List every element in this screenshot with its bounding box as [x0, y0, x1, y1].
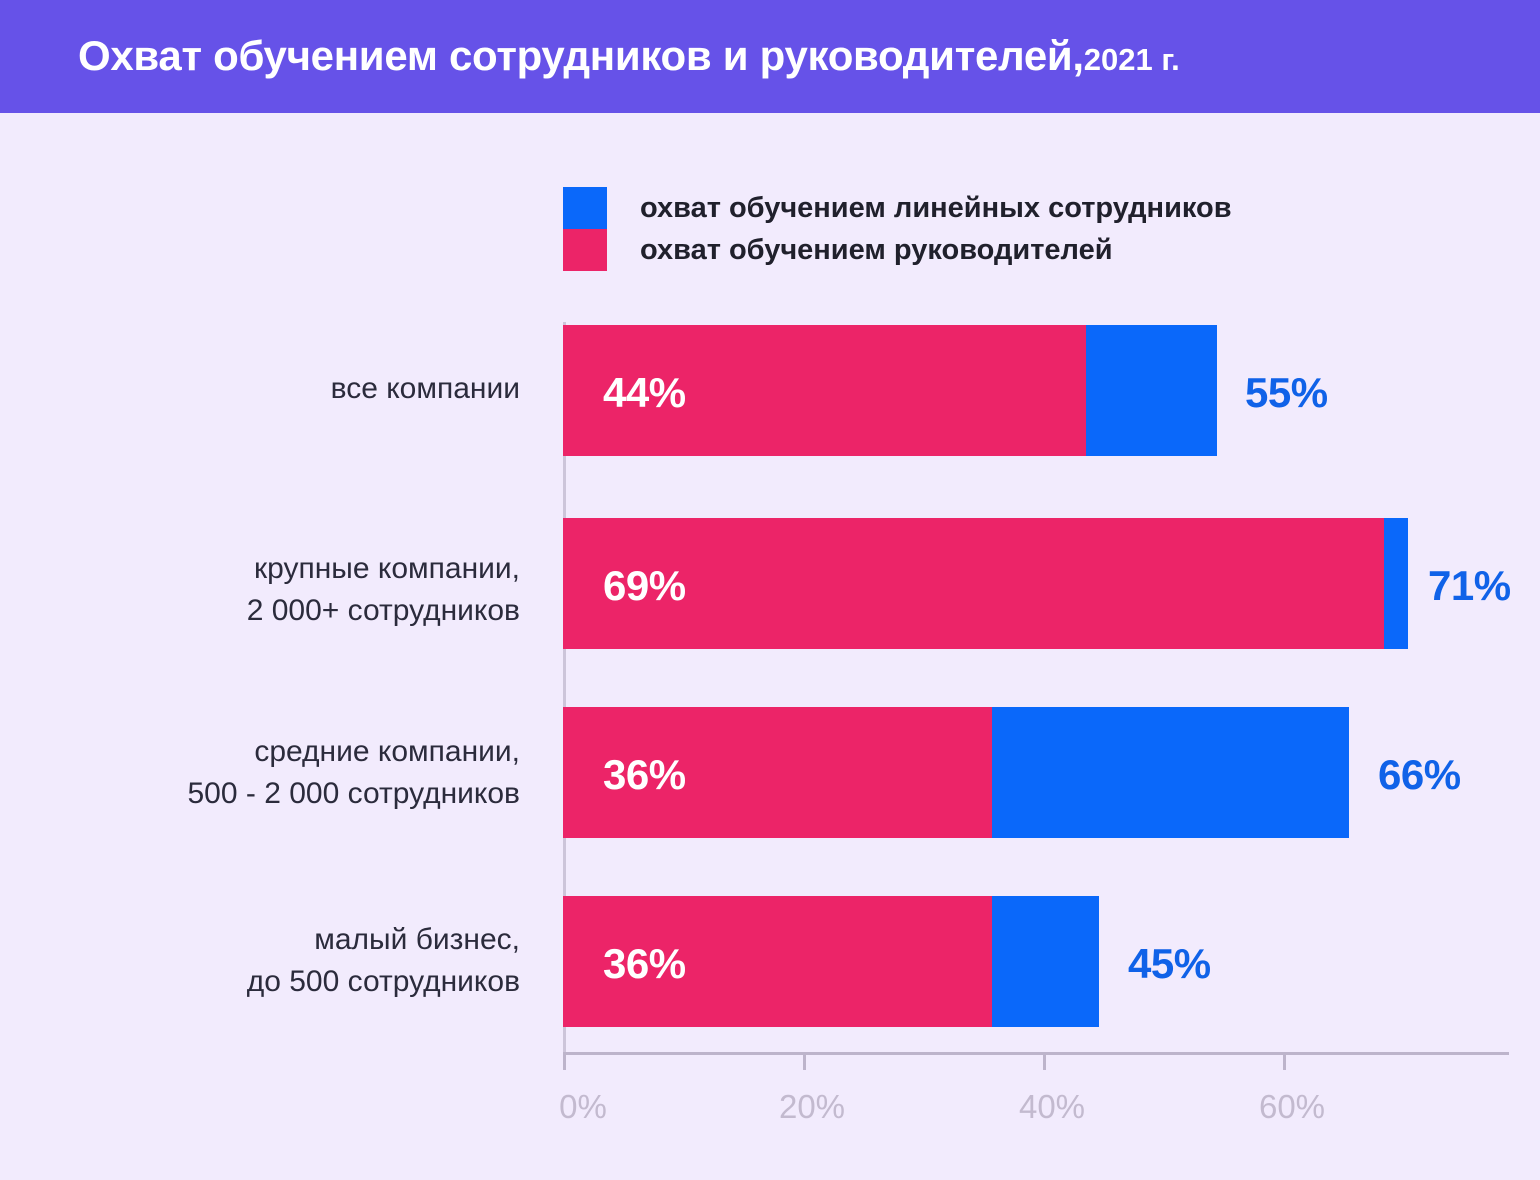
- x-axis-label-40: 40%: [1019, 1088, 1085, 1126]
- x-axis-tick-40: [1043, 1052, 1046, 1070]
- bar-value-blue-small-business: 45%: [1128, 940, 1211, 988]
- category-label-all-companies: все компании: [60, 368, 520, 410]
- category-label-medium-companies: средние компании, 500 - 2 000 сотруднико…: [60, 731, 520, 815]
- bar-value-blue-medium-companies: 66%: [1378, 751, 1461, 799]
- x-axis-label-60: 60%: [1259, 1088, 1325, 1126]
- bar-value-pink-large-companies: 69%: [603, 562, 686, 610]
- bar-value-pink-all-companies: 44%: [603, 369, 686, 417]
- infographic-root: Охват обучением сотрудников и руководите…: [0, 0, 1540, 1180]
- bar-value-blue-all-companies: 55%: [1245, 369, 1328, 417]
- x-axis-tick-20: [803, 1052, 806, 1070]
- x-axis-label-20: 20%: [779, 1088, 845, 1126]
- x-axis-tick-60: [1283, 1052, 1286, 1070]
- x-axis-tick-0: [563, 1052, 566, 1070]
- bar-value-pink-medium-companies: 36%: [603, 751, 686, 799]
- x-axis-line: [563, 1052, 1509, 1055]
- x-axis-label-0: 0%: [559, 1088, 607, 1126]
- bar-pink-large-companies: [563, 518, 1384, 649]
- category-label-small-business: малый бизнес, до 500 сотрудников: [60, 919, 520, 1003]
- bar-value-blue-large-companies: 71%: [1428, 562, 1511, 610]
- bar-value-pink-small-business: 36%: [603, 940, 686, 988]
- chart-plot-area: все компании 44% 55% крупные компании, 2…: [0, 0, 1540, 1180]
- category-label-large-companies: крупные компании, 2 000+ сотрудников: [60, 548, 520, 632]
